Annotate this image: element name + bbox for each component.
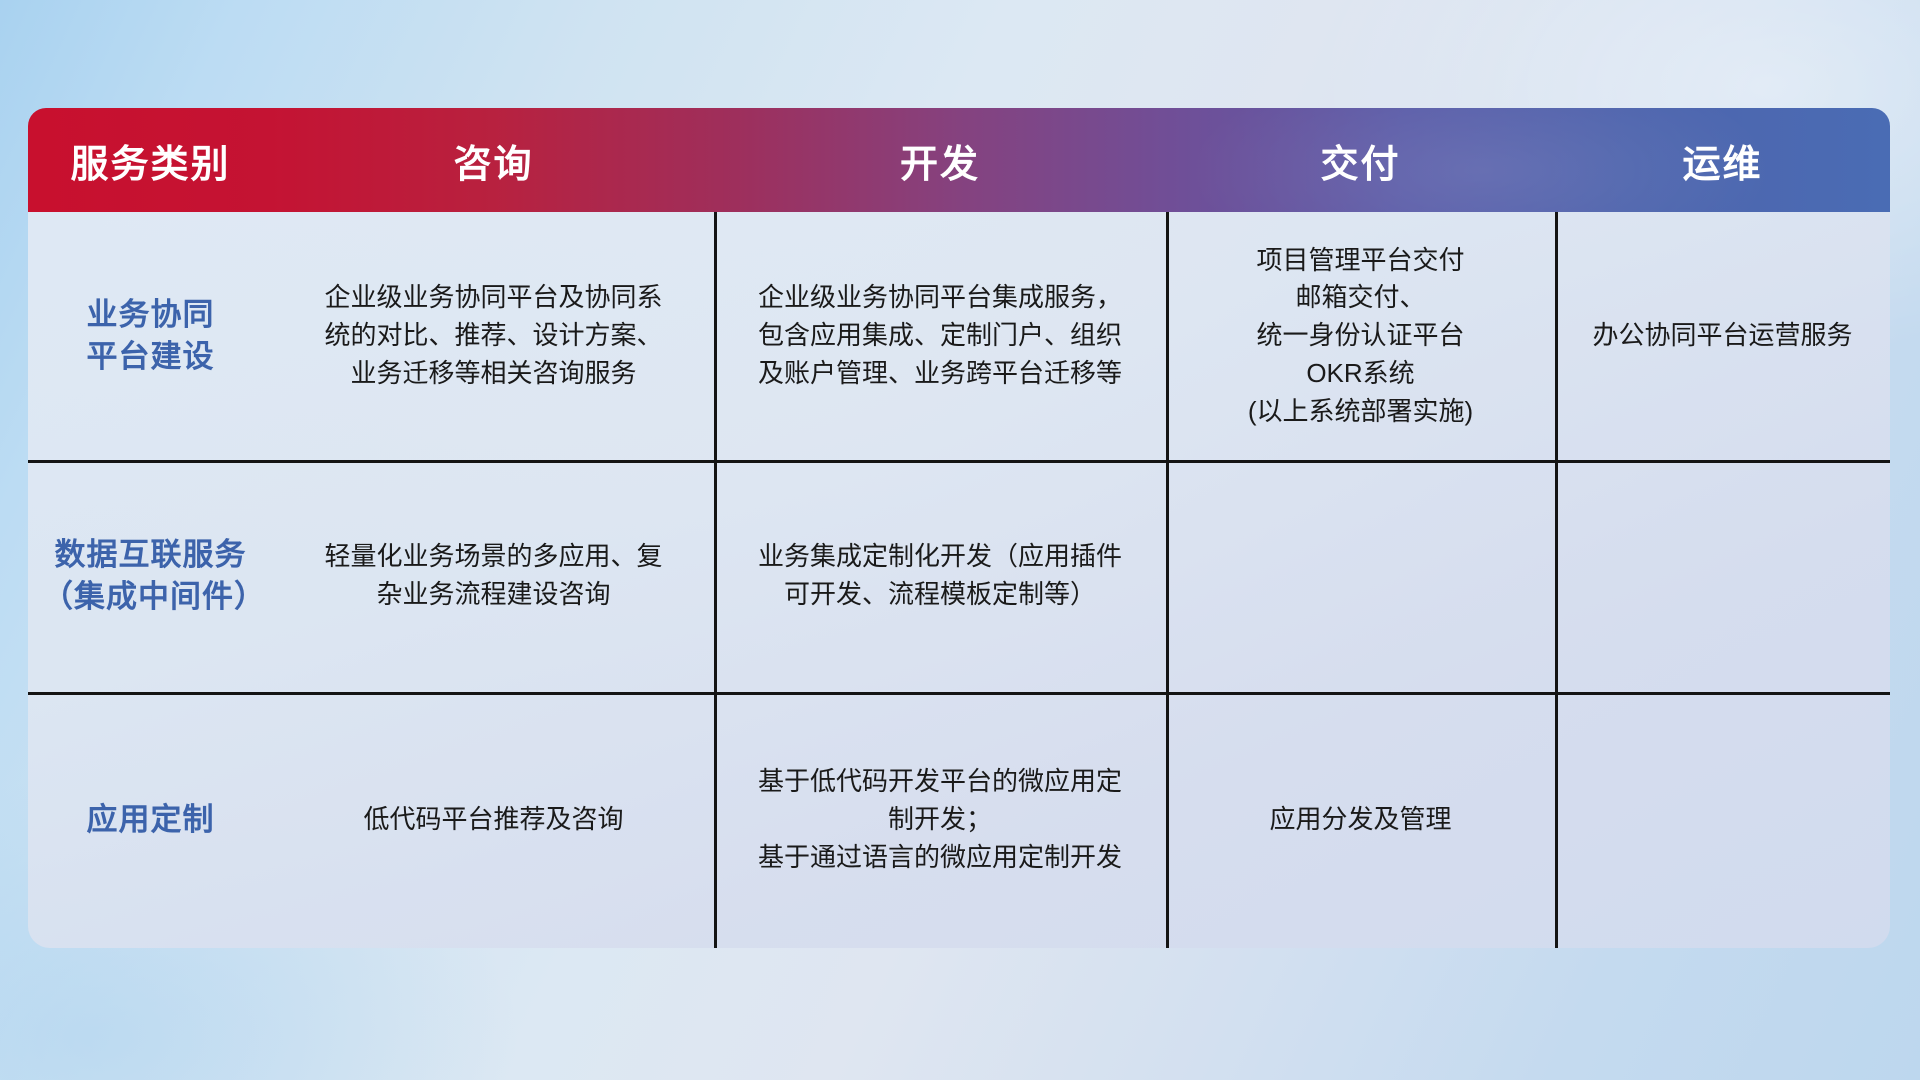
row-label-business-collaboration-platform: 业务协同 平台建设 [28,212,273,460]
table-header-service-category: 服务类别 [28,133,273,188]
cell-consulting-row-2: 轻量化业务场景的多应用、复 杂业务流程建设咨询 [273,460,714,692]
table-body: 业务协同 平台建设 企业级业务协同平台及协同系 统的对比、推荐、设计方案、 业务… [28,212,1890,948]
table-header-consulting: 咨询 [273,133,714,188]
cell-operations-row-3 [1555,692,1890,948]
service-matrix-table: 服务类别 咨询 开发 交付 运维 业务协同 平台建设 企业级业务协同平台及协同系… [28,108,1890,948]
table-header-development: 开发 [714,133,1166,188]
table-row: 数据互联服务 （集成中间件） 轻量化业务场景的多应用、复 杂业务流程建设咨询 业… [28,460,1890,692]
cell-development-row-2: 业务集成定制化开发（应用插件 可开发、流程模板定制等） [714,460,1166,692]
cell-operations-row-1: 办公协同平台运营服务 [1555,212,1890,460]
cell-development-row-3: 基于低代码开发平台的微应用定 制开发； 基于通过语言的微应用定制开发 [714,692,1166,948]
cell-delivery-row-3: 应用分发及管理 [1166,692,1555,948]
cell-development-row-1: 企业级业务协同平台集成服务， 包含应用集成、定制门户、组织 及账户管理、业务跨平… [714,212,1166,460]
cell-consulting-row-1: 企业级业务协同平台及协同系 统的对比、推荐、设计方案、 业务迁移等相关咨询服务 [273,212,714,460]
table-row: 应用定制 低代码平台推荐及咨询 基于低代码开发平台的微应用定 制开发； 基于通过… [28,692,1890,948]
cell-delivery-row-1: 项目管理平台交付 邮箱交付、 统一身份认证平台 OKR系统 (以上系统部署实施) [1166,212,1555,460]
row-label-data-interconnect-service: 数据互联服务 （集成中间件） [28,460,273,692]
table-header-row: 服务类别 咨询 开发 交付 运维 [28,108,1890,212]
table-header-operations: 运维 [1555,133,1890,188]
row-label-application-customization: 应用定制 [28,692,273,948]
table-row: 业务协同 平台建设 企业级业务协同平台及协同系 统的对比、推荐、设计方案、 业务… [28,212,1890,460]
cell-operations-row-2 [1555,460,1890,692]
table-header-delivery: 交付 [1166,133,1555,188]
cell-consulting-row-3: 低代码平台推荐及咨询 [273,692,714,948]
cell-delivery-row-2 [1166,460,1555,692]
